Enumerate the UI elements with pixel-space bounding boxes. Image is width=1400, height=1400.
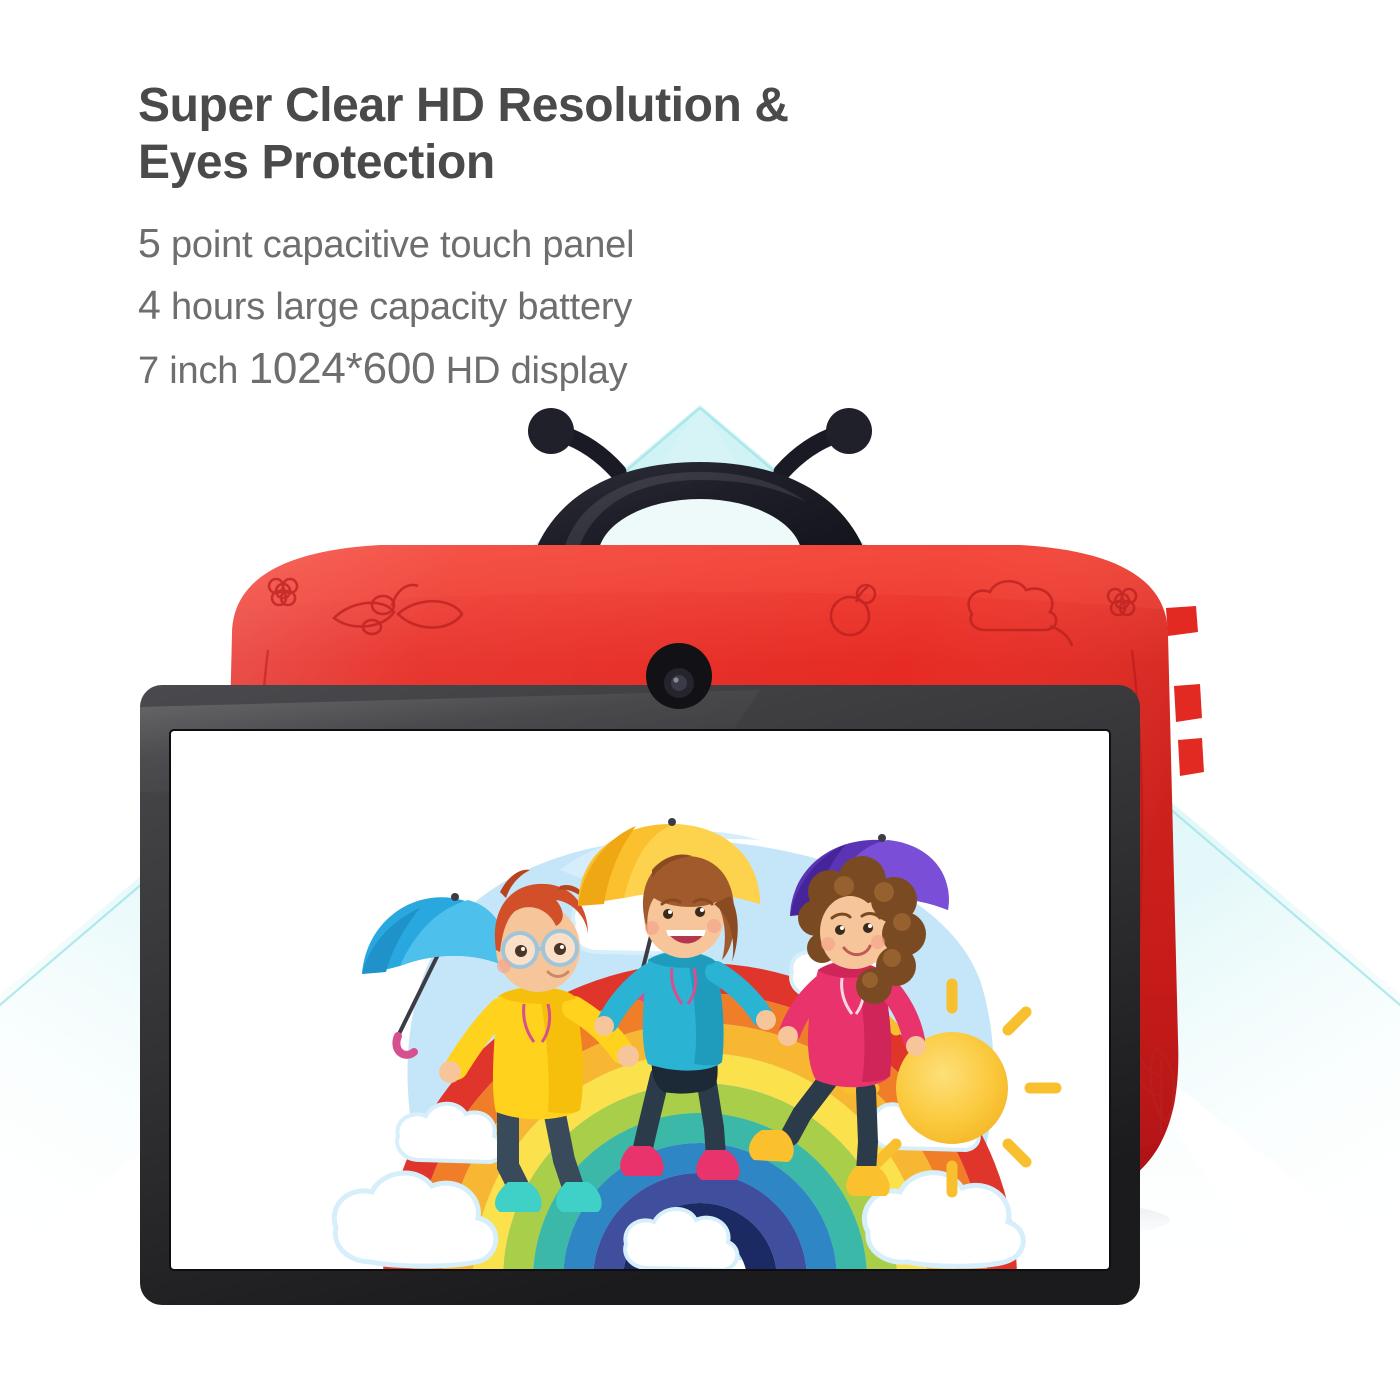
kids-tablet-illustration: HAPPY — [0, 400, 1400, 1400]
camera-lens-glint — [673, 677, 678, 682]
front-camera — [646, 643, 712, 709]
antenna-right-tip-icon — [826, 408, 872, 454]
feature-bullet-battery: 4 hours large capacity battery — [138, 275, 789, 337]
headline-line-1: Super Clear HD Resolution & — [138, 78, 789, 135]
child-middle-leg-front — [706, 1078, 716, 1156]
feature-bullet-touch-panel: 5 point capacitive touch panel — [138, 213, 789, 275]
bullet-3-resolution: 1024*600 — [249, 344, 436, 393]
bullet-2-number: 4 — [138, 282, 161, 328]
headline-line-2: Eyes Protection — [138, 135, 789, 192]
product-photo-area: HAPPY — [0, 400, 1400, 1400]
child-right-leg-front — [866, 1090, 868, 1172]
side-button-volume-down[interactable] — [1178, 738, 1204, 776]
bullet-1-text: point capacitive touch panel — [161, 224, 635, 266]
feature-bullet-list: 5 point capacitive touch panel 4 hours l… — [138, 213, 789, 402]
feature-bullet-display: 7 inch 1024*600 HD display — [138, 336, 789, 402]
side-button-power[interactable] — [1166, 606, 1198, 636]
antenna-left-tip-icon — [528, 408, 574, 454]
bullet-2-text: hours large capacity battery — [161, 286, 633, 328]
screen-display[interactable] — [170, 730, 1110, 1280]
camera-lens-inner — [671, 675, 687, 691]
marketing-copy-block: Super Clear HD Resolution & Eyes Protect… — [138, 78, 789, 402]
bullet-3-suffix: HD display — [435, 350, 627, 392]
child-right-boot-back — [749, 1130, 794, 1162]
bullet-3-prefix: 7 inch — [138, 350, 249, 392]
bullet-1-number: 5 — [138, 220, 161, 266]
side-button-volume-up[interactable] — [1174, 684, 1202, 722]
